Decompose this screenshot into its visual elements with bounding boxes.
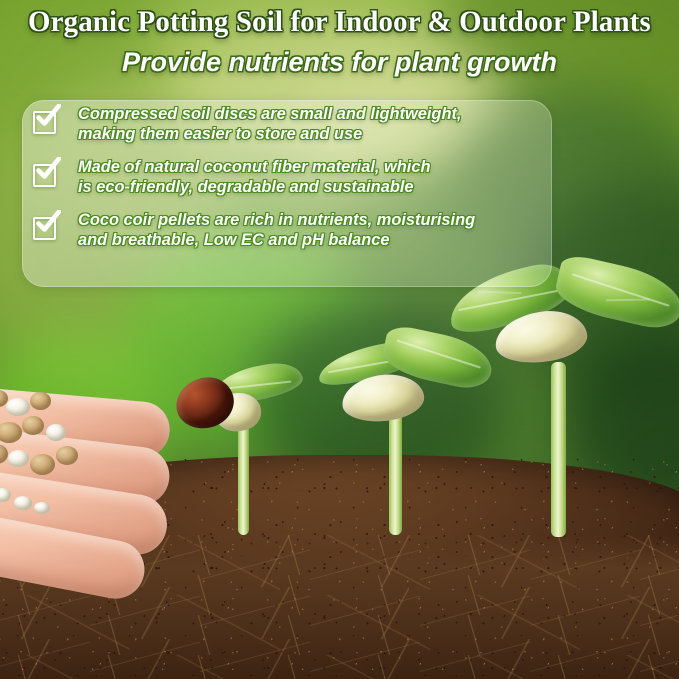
page-title: Organic Potting Soil for Indoor & Outdoo… [14, 5, 666, 39]
pellet-tan [30, 392, 51, 410]
page-subtitle: Provide nutrients for plant growth [0, 47, 679, 78]
checkbox-checked-icon [33, 108, 59, 134]
list-item: Made of natural coconut fiber material, … [33, 158, 553, 197]
pellet-white [14, 496, 32, 510]
pellet-white [8, 450, 29, 467]
sprout-stem [551, 362, 566, 537]
pellet-tan [30, 454, 55, 475]
pellet-tan [56, 446, 78, 465]
list-item: Compressed soil discs are small and ligh… [33, 105, 553, 144]
sprout-stem [238, 415, 249, 535]
hand-with-pellets [0, 392, 200, 592]
list-item: Coco coir pellets are rich in nutrients,… [33, 211, 553, 250]
sprout-stem [389, 400, 402, 535]
feature-text: Coco coir pellets are rich in nutrients,… [78, 211, 475, 250]
pellet-white [6, 398, 30, 416]
product-infographic: Organic Potting Soil for Indoor & Outdoo… [0, 0, 679, 679]
pellet-white [46, 424, 66, 441]
feature-text: Made of natural coconut fiber material, … [78, 158, 430, 197]
checkbox-checked-icon [33, 214, 59, 240]
feature-list: Compressed soil discs are small and ligh… [33, 105, 553, 261]
pellet-white [34, 502, 50, 514]
feature-text: Compressed soil discs are small and ligh… [78, 105, 461, 144]
checkbox-checked-icon [33, 161, 59, 187]
pellet-tan [22, 416, 44, 435]
